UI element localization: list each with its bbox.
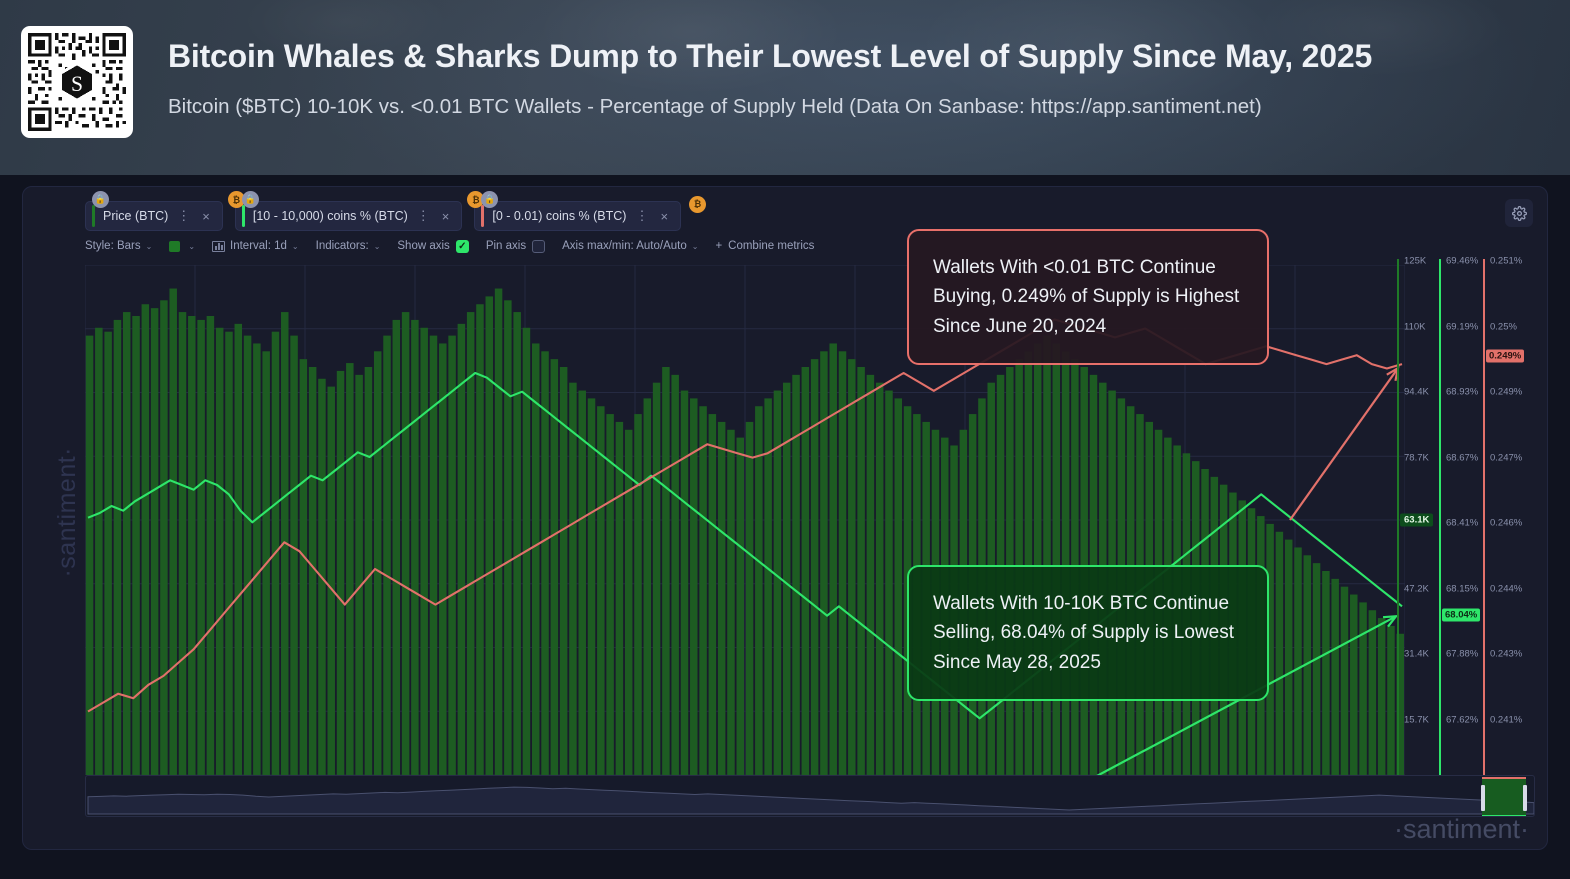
minimap-selection-handle[interactable] [1482, 777, 1526, 817]
axis-tick-label: 125K [1404, 256, 1426, 267]
chevron-down-icon: ⌄ [692, 242, 699, 251]
style-dropdown[interactable]: Style: Bars ⌄ [85, 240, 152, 252]
axis-tick-label: 0.25% [1490, 321, 1517, 332]
svg-text:S: S [71, 72, 83, 96]
right-axes: 125K110K94.4K78.7K63.1K47.2K31.4K15.7K06… [1397, 257, 1525, 787]
series-color-swatch [92, 205, 95, 227]
metric-chip-row: 🔒 Price (BTC) ⋮ × ₿ 🔒 [10 - 10,000) coin… [85, 199, 710, 233]
page-title: Bitcoin Whales & Sharks Dump to Their Lo… [168, 38, 1553, 75]
chart-toolbar: Style: Bars ⌄ ⌄ Interval: 1d ⌄ Indicator… [85, 235, 831, 257]
axis-tick-label: 68.67% [1446, 452, 1478, 463]
axis-current-value-badge: 68.04% [1442, 609, 1480, 622]
lock-icon: 🔒 [481, 191, 498, 208]
pin-axis-toggle[interactable]: Pin axis [486, 240, 545, 253]
axis-line [1483, 259, 1485, 785]
axis-minmax-dropdown[interactable]: Axis max/min: Auto/Auto ⌄ [562, 240, 698, 252]
metric-chip-shrimp[interactable]: ₿ 🔒 [0 - 0.01) coins % (BTC) ⋮ × [474, 201, 681, 231]
axis-tick-label: 15.7K [1404, 714, 1429, 725]
axis-tick-label: 69.46% [1446, 256, 1478, 267]
metric-close-icon[interactable]: × [440, 209, 458, 224]
axis-tick-label: 67.62% [1446, 714, 1478, 725]
range-minimap[interactable] [85, 775, 1535, 817]
metric-close-icon[interactable]: × [658, 209, 676, 224]
metric-chip-price[interactable]: 🔒 Price (BTC) ⋮ × [85, 201, 223, 231]
coin-icon: ₿ [689, 196, 706, 213]
chevron-down-icon: ⌄ [146, 242, 153, 251]
axis-tick-label: 0.249% [1490, 387, 1522, 398]
axis-tick-label: 0.251% [1490, 256, 1522, 267]
chart-card: ·santiment· 🔒 Price (BTC) ⋮ × ₿ 🔒 [10 - … [22, 186, 1548, 850]
axis-tick-label: 67.88% [1446, 649, 1478, 660]
plus-icon: + [715, 240, 722, 252]
indicators-dropdown[interactable]: Indicators: ⌄ [316, 240, 381, 252]
checkbox-checked-icon[interactable]: ✓ [456, 240, 469, 253]
metric-menu-icon[interactable]: ⋮ [626, 208, 658, 224]
series-color-swatch [242, 205, 245, 227]
metric-chip-label: [10 - 10,000) coins % (BTC) [253, 209, 408, 223]
color-swatch-dropdown[interactable]: ⌄ [169, 241, 195, 252]
show-axis-toggle[interactable]: Show axis ✓ [397, 240, 468, 253]
page-header: S Bitcoin Whales & Sharks Dump to Their … [0, 0, 1570, 175]
axis-shrimp[interactable]: 0.251%0.25%0.249%0.247%0.246%0.244%0.243… [1483, 257, 1525, 787]
axis-line [1439, 259, 1441, 785]
metric-chip-label: [0 - 0.01) coins % (BTC) [492, 209, 626, 223]
chevron-down-icon: ⌄ [188, 242, 195, 251]
checkbox-unchecked-icon[interactable] [532, 240, 545, 253]
chevron-down-icon: ⌄ [374, 242, 381, 251]
metric-chip-whales[interactable]: ₿ 🔒 [10 - 10,000) coins % (BTC) ⋮ × [235, 201, 463, 231]
metric-chip-label: Price (BTC) [103, 209, 168, 223]
metric-menu-icon[interactable]: ⋮ [168, 208, 200, 224]
axis-tick-label: 0.246% [1490, 518, 1522, 529]
annotation-green-callout: Wallets With 10-10K BTC Continue Selling… [907, 565, 1269, 701]
axis-tick-label: 0.243% [1490, 649, 1522, 660]
santiment-watermark-left: ·santiment· [53, 447, 82, 578]
axis-current-value-badge: 63.1K [1400, 514, 1433, 527]
axis-line [1397, 259, 1399, 785]
axis-tick-label: 69.19% [1446, 321, 1478, 332]
axis-tick-label: 47.2K [1404, 583, 1429, 594]
metric-menu-icon[interactable]: ⋮ [408, 208, 440, 224]
axis-tick-label: 31.4K [1404, 649, 1429, 660]
color-swatch-icon [169, 241, 180, 252]
axis-tick-label: 0.241% [1490, 714, 1522, 725]
axis-tick-label: 68.41% [1446, 518, 1478, 529]
combine-metrics-button[interactable]: + Combine metrics [715, 240, 814, 252]
settings-gear-icon[interactable] [1505, 199, 1533, 227]
chevron-down-icon: ⌄ [292, 242, 299, 251]
page-subtitle: Bitcoin ($BTC) 10-10K vs. <0.01 BTC Wall… [168, 95, 1553, 119]
axis-tick-label: 68.93% [1446, 387, 1478, 398]
axis-price[interactable]: 125K110K94.4K78.7K63.1K47.2K31.4K15.7K06… [1397, 257, 1439, 787]
qr-code-icon: S [21, 26, 133, 138]
metric-close-icon[interactable]: × [200, 209, 218, 224]
series-color-swatch [481, 205, 484, 227]
axis-tick-label: 68.15% [1446, 583, 1478, 594]
axis-tick-label: 0.244% [1490, 583, 1522, 594]
lock-icon: 🔒 [242, 191, 259, 208]
interval-dropdown[interactable]: Interval: 1d ⌄ [212, 240, 299, 252]
axis-tick-label: 0.247% [1490, 452, 1522, 463]
lock-icon: 🔒 [92, 191, 109, 208]
axis-tick-label: 110K [1404, 321, 1425, 332]
santiment-watermark-right: ·santiment· [1394, 814, 1529, 845]
axis-whales[interactable]: 69.46%69.19%68.93%68.67%68.41%68.15%67.8… [1439, 257, 1481, 787]
axis-tick-label: 94.4K [1404, 387, 1429, 398]
axis-current-value-badge: 0.249% [1486, 350, 1524, 363]
axis-tick-label: 78.7K [1404, 452, 1429, 463]
annotation-red-callout: Wallets With <0.01 BTC Continue Buying, … [907, 229, 1269, 365]
bars-icon [212, 241, 225, 252]
